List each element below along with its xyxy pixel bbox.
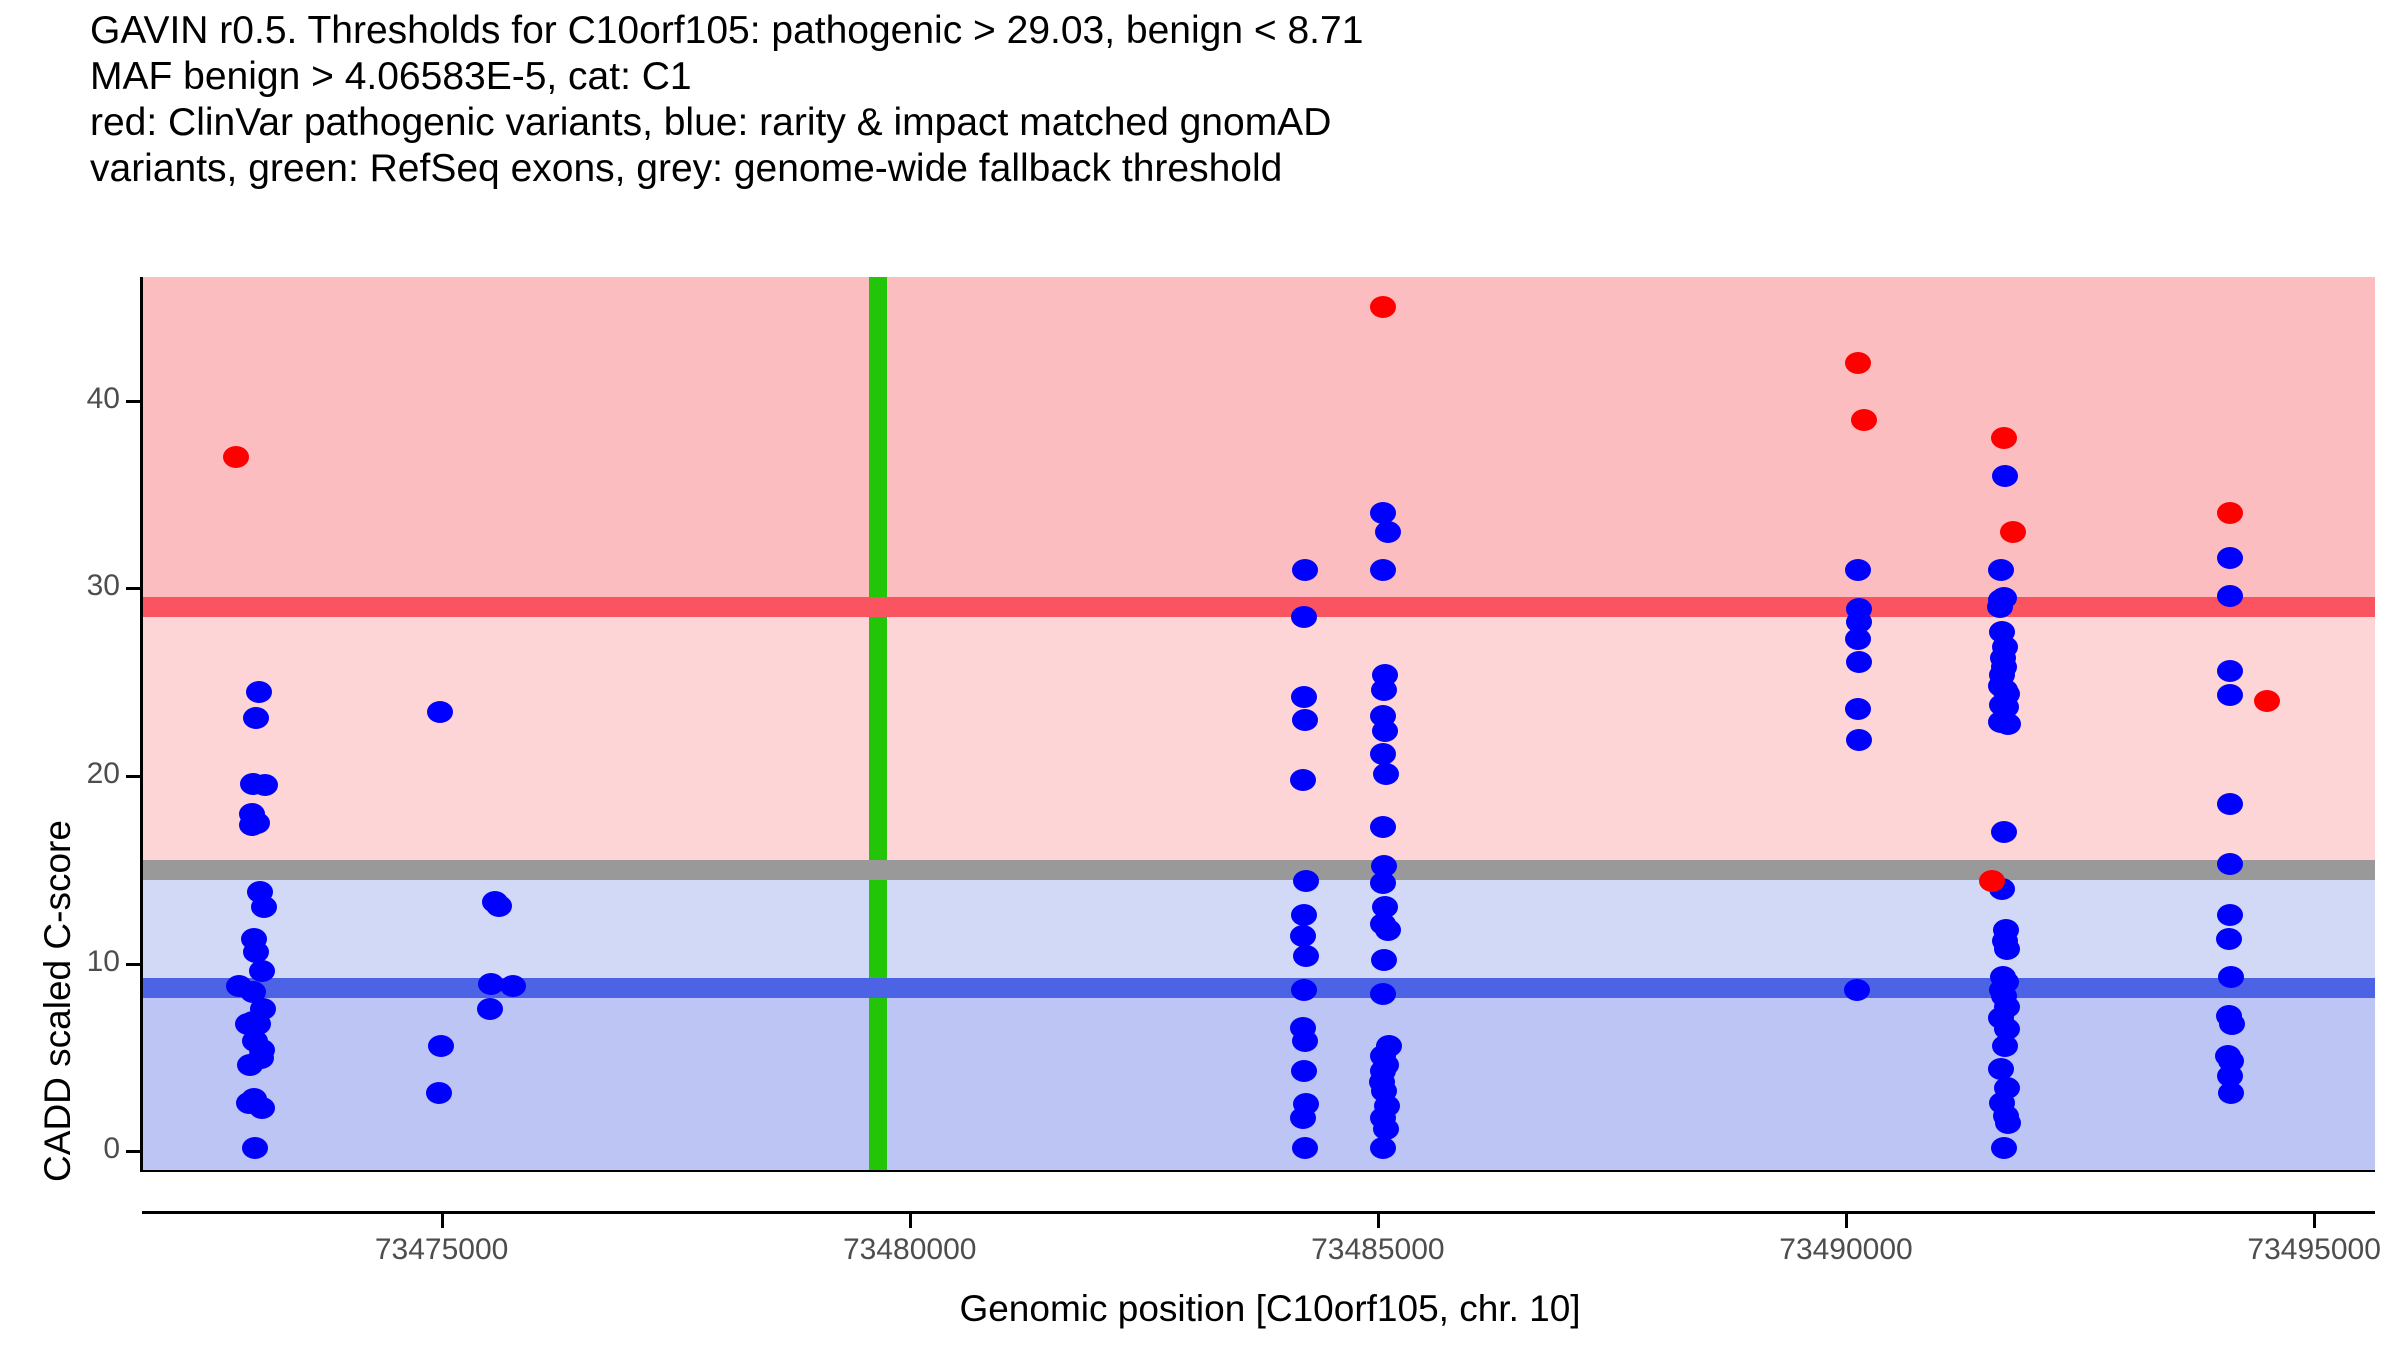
plot-title-block: GAVIN r0.5. Thresholds for C10orf105: pa… [90,8,2370,192]
gnomad-variant-point [1371,679,1397,701]
x-tick-mark [441,1214,444,1228]
gnomad-variant-point [1995,1112,2021,1134]
refseq-exon-marker [869,277,887,1172]
gnomad-variant-point [244,812,270,834]
gnomad-variant-point [1292,1030,1318,1052]
title-line-3: red: ClinVar pathogenic variants, blue: … [90,100,2370,146]
gnomad-variant-point [1290,1107,1316,1129]
pathogenic-threshold-line [142,597,2375,617]
gnomad-variant-point [2219,1013,2245,1035]
plot-root: GAVIN r0.5. Thresholds for C10orf105: pa… [0,0,2400,1350]
x-tick-mark [909,1214,912,1228]
x-tick-label: 73490000 [1779,1233,1912,1267]
gnomad-variant-point [427,701,453,723]
gnomad-variant-point [1292,1137,1318,1159]
x-axis-title: Genomic position [C10orf105, chr. 10] [0,1288,2400,1330]
gnomad-variant-point [426,1082,452,1104]
gnomad-variant-point [1845,559,1871,581]
gnomad-variant-point [1370,559,1396,581]
gnomad-variant-point [1370,743,1396,765]
x-tick-label: 73495000 [2247,1233,2380,1267]
gnomad-variant-point [246,681,272,703]
gnomad-variant-point [2218,966,2244,988]
title-line-4: variants, green: RefSeq exons, grey: gen… [90,146,2370,192]
gnomad-variant-point [1293,870,1319,892]
gnomad-variant-point [249,960,275,982]
fallback-threshold-line [142,860,2375,880]
clinvar-variant-point [1851,409,1877,431]
gnomad-variant-point [1370,1137,1396,1159]
y-tick-mark [126,587,140,590]
gnomad-variant-point [1995,713,2021,735]
band-benign-upper [142,870,2375,988]
gnomad-variant-point [242,1137,268,1159]
x-tick-mark [1845,1214,1848,1228]
gnomad-variant-point [477,998,503,1020]
y-axis-title: CADD scaled C-score [37,651,79,1351]
gnomad-variant-point [2217,904,2243,926]
gnomad-variant-point [2217,660,2243,682]
gnomad-variant-point [243,707,269,729]
y-axis-line [140,277,143,1172]
y-tick-mark [126,775,140,778]
gnomad-variant-point [500,975,526,997]
gnomad-variant-point [2217,793,2243,815]
x-axis-line [142,1211,2375,1214]
y-tick-mark [126,963,140,966]
plot-panel [142,277,2375,1172]
gnomad-variant-point [1291,1060,1317,1082]
clinvar-variant-point [2000,521,2026,543]
gnomad-variant-point [1375,919,1401,941]
gnomad-variant-point [249,1097,275,1119]
gnomad-variant-point [2218,1082,2244,1104]
x-tick-mark [1377,1214,1380,1228]
x-tick-mark [2313,1214,2316,1228]
y-tick-mark [126,1150,140,1153]
clinvar-variant-point [223,446,249,468]
gnomad-variant-point [428,1035,454,1057]
gnomad-variant-point [1992,465,2018,487]
gnomad-variant-point [1373,763,1399,785]
gnomad-variant-point [1375,521,1401,543]
gnomad-variant-point [1291,606,1317,628]
x-tick-label: 73480000 [843,1233,976,1267]
panel-baseline [142,1170,2375,1172]
band-benign [142,988,2375,1172]
x-tick-label: 73475000 [375,1233,508,1267]
title-line-1: GAVIN r0.5. Thresholds for C10orf105: pa… [90,8,2370,54]
gnomad-variant-point [1292,709,1318,731]
gnomad-variant-point [1293,945,1319,967]
gnomad-variant-point [1846,651,1872,673]
title-line-2: MAF benign > 4.06583E-5, cat: C1 [90,54,2370,100]
gnomad-variant-point [1370,872,1396,894]
gnomad-variant-point [1994,938,2020,960]
y-tick-mark [126,400,140,403]
band-vus [142,607,2375,870]
gnomad-variant-point [1290,925,1316,947]
gnomad-variant-point [486,895,512,917]
band-pathogenic [142,277,2375,607]
gnomad-variant-point [1988,559,2014,581]
gnomad-variant-point [1371,949,1397,971]
gnomad-variant-point [1845,698,1871,720]
y-axis-title-host: CADD scaled C-score [18,380,78,820]
gnomad-variant-point [1991,1137,2017,1159]
gnomad-variant-point [1292,559,1318,581]
gnomad-variant-point [248,1047,274,1069]
gnomad-variant-point [1290,769,1316,791]
gnomad-variant-point [1845,628,1871,650]
benign-threshold-line [142,978,2375,998]
gnomad-variant-point [2217,585,2243,607]
gnomad-variant-point [1372,720,1398,742]
x-tick-label: 73485000 [1311,1233,1444,1267]
